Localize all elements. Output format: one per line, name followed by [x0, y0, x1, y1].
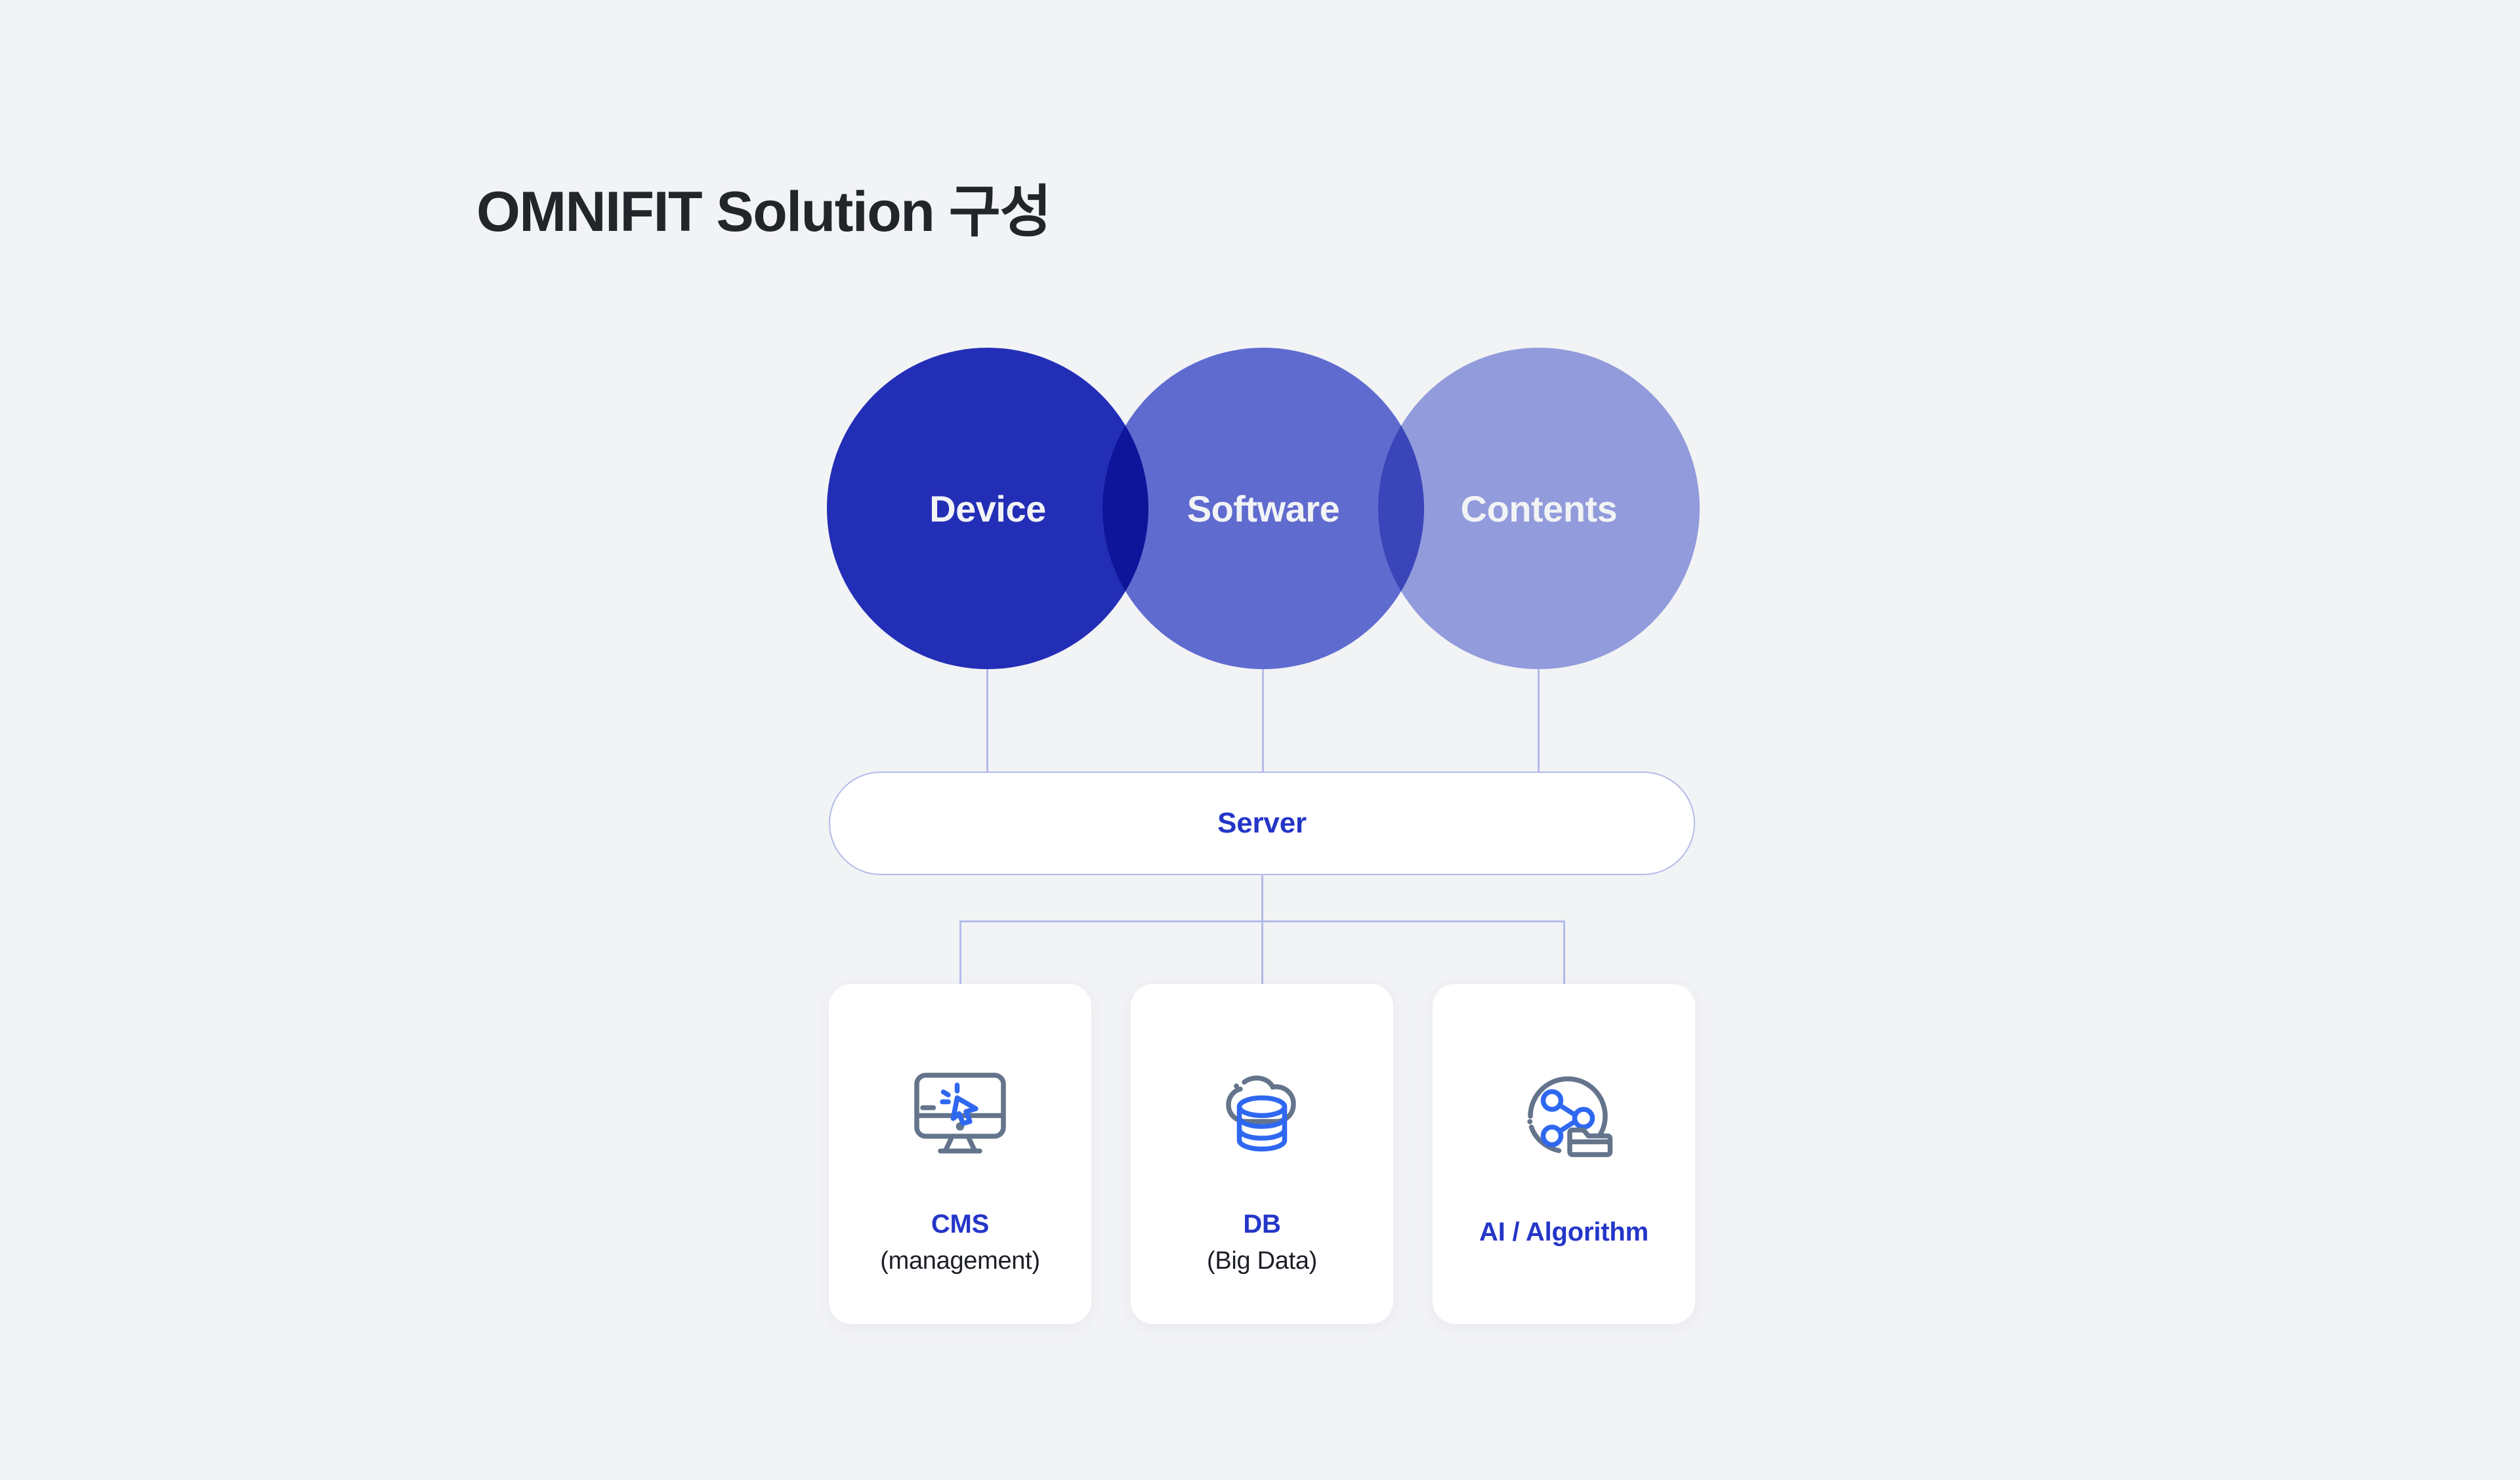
circle-software-label: Software	[1187, 487, 1340, 530]
card-db-subtitle: (Big Data)	[1207, 1247, 1317, 1275]
connector-software-to-server	[1262, 669, 1264, 773]
card-cms-subtitle: (management)	[880, 1247, 1040, 1275]
card-ai-title: AI / Algorithm	[1479, 1218, 1648, 1247]
circle-device[interactable]: Device	[827, 348, 1148, 669]
card-db[interactable]: DB (Big Data)	[1131, 984, 1393, 1324]
connector-server-trunk	[1261, 875, 1263, 984]
card-cms[interactable]: CMS (management)	[829, 984, 1091, 1324]
connector-device-to-server	[986, 669, 988, 773]
card-db-title: DB	[1243, 1210, 1280, 1239]
page-title: OMNIFIT Solution 구성	[476, 165, 1051, 247]
connector-branch-bus	[959, 920, 1565, 922]
circle-software[interactable]: Software	[1102, 348, 1424, 669]
diagram-canvas: OMNIFIT Solution 구성 Device Software Cont…	[0, 0, 2520, 1480]
circle-contents[interactable]: Contents	[1378, 348, 1700, 669]
card-ai-algorithm[interactable]: AI / Algorithm	[1433, 984, 1695, 1324]
network-share-folder-icon	[1498, 1050, 1629, 1181]
connector-bus-to-cms	[959, 920, 961, 985]
circle-device-label: Device	[929, 487, 1046, 530]
circle-group: Device Software Contents	[827, 348, 1700, 669]
connector-contents-to-server	[1538, 669, 1540, 773]
server-label: Server	[1217, 807, 1307, 840]
monitor-cursor-icon	[894, 1047, 1026, 1178]
server-node[interactable]: Server	[829, 771, 1695, 875]
circle-contents-label: Contents	[1461, 487, 1618, 530]
cloud-database-icon	[1196, 1047, 1328, 1178]
card-cms-title: CMS	[931, 1210, 989, 1239]
connector-bus-to-ai	[1563, 920, 1565, 985]
